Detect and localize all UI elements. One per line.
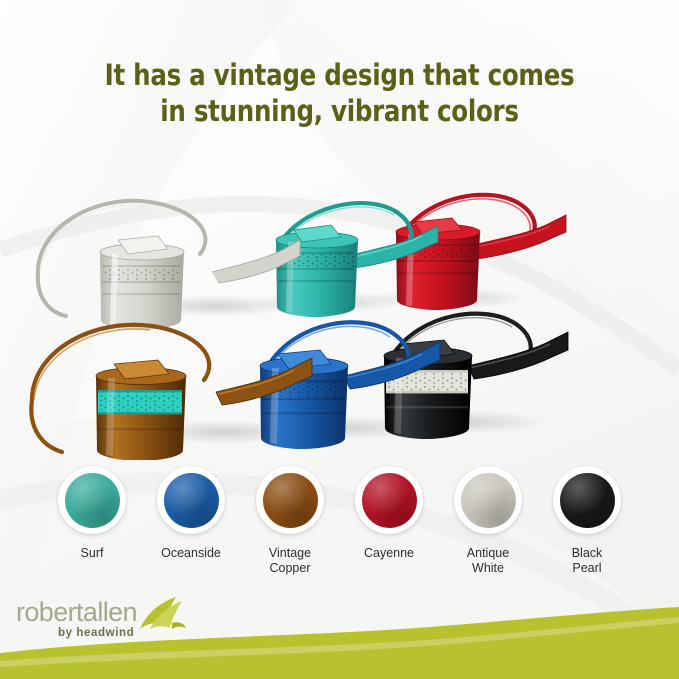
swatch-surf[interactable]: Surf xyxy=(43,466,142,561)
swatch-disc-wrap[interactable] xyxy=(355,466,423,534)
swatch-color-cayenne xyxy=(362,473,417,528)
swatch-oceanside[interactable]: Oceanside xyxy=(142,466,241,561)
swatch-disc-wrap[interactable] xyxy=(454,466,522,534)
swatch-label-line-1: Surf xyxy=(81,546,104,560)
swatch-disc-wrap[interactable] xyxy=(58,466,126,534)
swatch-color-oceanside xyxy=(164,473,219,528)
swatch-label-line-2: White xyxy=(467,561,509,576)
headline-line-1: It has a vintage design that comes xyxy=(20,57,658,93)
color-swatch-row: Surf Oceanside Vintage Copper xyxy=(0,466,679,586)
swatch-label-line-1: Vintage xyxy=(269,546,311,560)
swatch-label: Vintage Copper xyxy=(269,546,311,576)
swatch-label-line-2: Pearl xyxy=(572,561,603,576)
swatch-label-line-1: Oceanside xyxy=(161,546,221,560)
leaf-icon xyxy=(136,595,194,633)
swatch-antique-white[interactable]: Antique White xyxy=(439,466,538,576)
swatch-color-vintage-copper xyxy=(263,473,318,528)
swatch-disc-wrap[interactable] xyxy=(256,466,324,534)
swatch-vintage-copper[interactable]: Vintage Copper xyxy=(241,466,340,576)
swatch-label: Oceanside xyxy=(161,546,221,561)
swatch-color-black-pearl xyxy=(560,473,615,528)
swatch-black-pearl[interactable]: Black Pearl xyxy=(538,466,637,576)
brand-logo: robertallen by headwind xyxy=(16,599,216,645)
swatch-label-line-2: Copper xyxy=(269,561,311,576)
swatch-label-line-1: Antique xyxy=(467,546,509,560)
swatch-disc-wrap[interactable] xyxy=(157,466,225,534)
swatch-label: Black Pearl xyxy=(572,546,603,576)
swatch-label: Antique White xyxy=(467,546,509,576)
page-title: It has a vintage design that comes in st… xyxy=(20,57,658,129)
swatch-disc-wrap[interactable] xyxy=(553,466,621,534)
swatch-label-line-1: Cayenne xyxy=(364,546,414,560)
swatch-color-antique-white xyxy=(461,473,516,528)
swatch-label-line-1: Black xyxy=(572,546,603,560)
product-photo xyxy=(0,160,679,460)
headline-line-2: in stunning, vibrant colors xyxy=(20,93,658,129)
swatch-label: Cayenne xyxy=(364,546,414,561)
swatch-label: Surf xyxy=(81,546,104,561)
swatch-cayenne[interactable]: Cayenne xyxy=(340,466,439,561)
marketing-image: It has a vintage design that comes in st… xyxy=(0,0,679,679)
swatch-color-surf xyxy=(65,473,120,528)
